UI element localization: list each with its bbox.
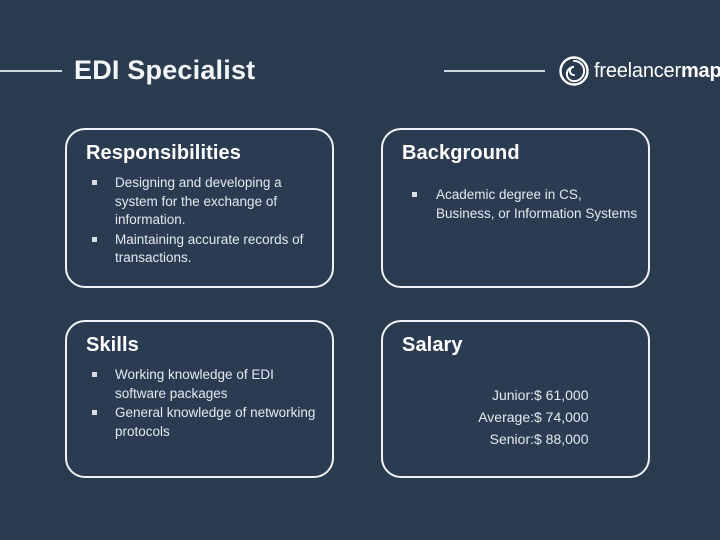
bullet-list-responsibilities: Designing and developing a system for th… bbox=[86, 174, 322, 269]
square-bullet-icon bbox=[412, 192, 417, 197]
salary-label-senior: Senior: bbox=[402, 428, 534, 450]
list-item-text: Designing and developing a system for th… bbox=[115, 175, 282, 227]
list-item-text: Academic degree in CS, Business, or Info… bbox=[436, 187, 637, 221]
list-item: Designing and developing a system for th… bbox=[86, 174, 322, 230]
salary-label-average: Average: bbox=[402, 406, 534, 428]
square-bullet-icon bbox=[92, 372, 97, 377]
brand-wordmark: freelancermap bbox=[594, 61, 720, 81]
card-title-background: Background bbox=[402, 142, 520, 165]
table-row: Average: $ 74,000 bbox=[402, 406, 630, 428]
bullet-list-background: Academic degree in CS, Business, or Info… bbox=[402, 186, 638, 224]
page-title: EDI Specialist bbox=[74, 44, 255, 96]
bullet-list-skills: Working knowledge of EDI software packag… bbox=[86, 366, 322, 442]
card-salary: Salary Junior: $ 61,000 Average: $ 74,00… bbox=[381, 320, 650, 478]
salary-table: Junior: $ 61,000 Average: $ 74,000 Senio… bbox=[402, 384, 630, 450]
page-header: EDI Specialist freelancermap bbox=[0, 44, 720, 100]
title-rule-divider bbox=[0, 70, 62, 72]
list-item-text: General knowledge of networking protocol… bbox=[115, 405, 315, 439]
list-item: Maintaining accurate records of transact… bbox=[86, 231, 322, 268]
card-title-responsibilities: Responsibilities bbox=[86, 142, 241, 165]
card-responsibilities: Responsibilities Designing and developin… bbox=[65, 128, 334, 288]
list-item-text: Maintaining accurate records of transact… bbox=[115, 232, 303, 266]
card-title-skills: Skills bbox=[86, 334, 139, 357]
brand-name-bold: map bbox=[681, 60, 720, 82]
brand-logo[interactable]: freelancermap bbox=[559, 54, 720, 88]
freelancermap-swirl-icon bbox=[559, 56, 589, 86]
logo-rule-divider bbox=[444, 70, 545, 72]
card-background: Background Academic degree in CS, Busine… bbox=[381, 128, 650, 288]
table-row: Senior: $ 88,000 bbox=[402, 428, 630, 450]
table-row: Junior: $ 61,000 bbox=[402, 384, 630, 406]
list-item: Working knowledge of EDI software packag… bbox=[86, 366, 322, 403]
card-skills: Skills Working knowledge of EDI software… bbox=[65, 320, 334, 478]
card-title-salary: Salary bbox=[402, 334, 463, 357]
square-bullet-icon bbox=[92, 237, 97, 242]
salary-value-average: $ 74,000 bbox=[534, 406, 630, 428]
list-item: General knowledge of networking protocol… bbox=[86, 404, 322, 441]
salary-value-senior: $ 88,000 bbox=[534, 428, 630, 450]
salary-label-junior: Junior: bbox=[402, 384, 534, 406]
square-bullet-icon bbox=[92, 410, 97, 415]
brand-name-light: freelancer bbox=[594, 60, 681, 82]
list-item: Academic degree in CS, Business, or Info… bbox=[402, 186, 638, 223]
salary-value-junior: $ 61,000 bbox=[534, 384, 630, 406]
square-bullet-icon bbox=[92, 180, 97, 185]
list-item-text: Working knowledge of EDI software packag… bbox=[115, 367, 274, 401]
